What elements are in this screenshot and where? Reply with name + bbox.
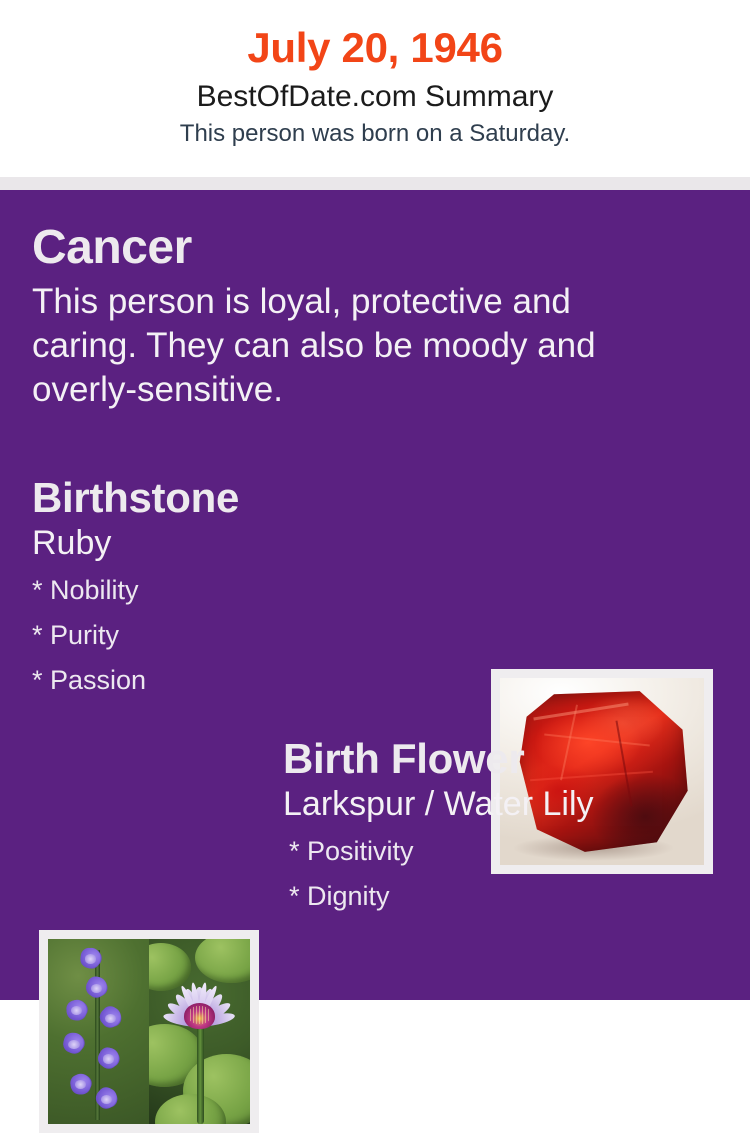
birthflower-name: Larkspur / Water Lily [283,783,743,825]
water-lily-photo [149,939,250,1124]
water-lily-bloom [165,972,234,1035]
list-item: * Passion [32,658,462,703]
header-divider [0,177,750,190]
zodiac-description: This person is loyal, protective and car… [32,280,642,412]
list-item: * Purity [32,613,462,658]
birthflower-heading: Birth Flower [283,734,743,784]
zodiac-section: Cancer This person is loyal, protective … [32,220,652,412]
list-item: * Dignity [289,874,743,919]
birthstone-heading: Birthstone [32,473,462,523]
birthflower-image-frame: larkspur-and-water-lily-photo [39,930,259,1133]
list-item: * Nobility [32,568,462,613]
birth-day-note: This person was born on a Saturday. [0,118,750,150]
birthstone-name: Ruby [32,522,462,564]
list-item: * Positivity [289,829,743,874]
birthstone-section: Birthstone Ruby * Nobility * Purity * Pa… [32,473,462,703]
larkspur-photo [48,939,149,1124]
flower-photo-split [48,939,250,1124]
site-summary-label: BestOfDate.com Summary [0,77,750,117]
page-header: July 20, 1946 BestOfDate.com Summary Thi… [0,0,750,177]
birthflower-trait-list: * Positivity * Dignity [283,829,743,919]
page-title-date: July 20, 1946 [0,22,750,74]
birthflower-section: Birth Flower Larkspur / Water Lily * Pos… [283,734,743,919]
zodiac-sign-title: Cancer [32,220,652,276]
birthstone-trait-list: * Nobility * Purity * Passion [32,568,462,703]
summary-panel: Cancer This person is loyal, protective … [0,190,750,1000]
birthflower-image: larkspur-and-water-lily-photo [48,939,250,1124]
